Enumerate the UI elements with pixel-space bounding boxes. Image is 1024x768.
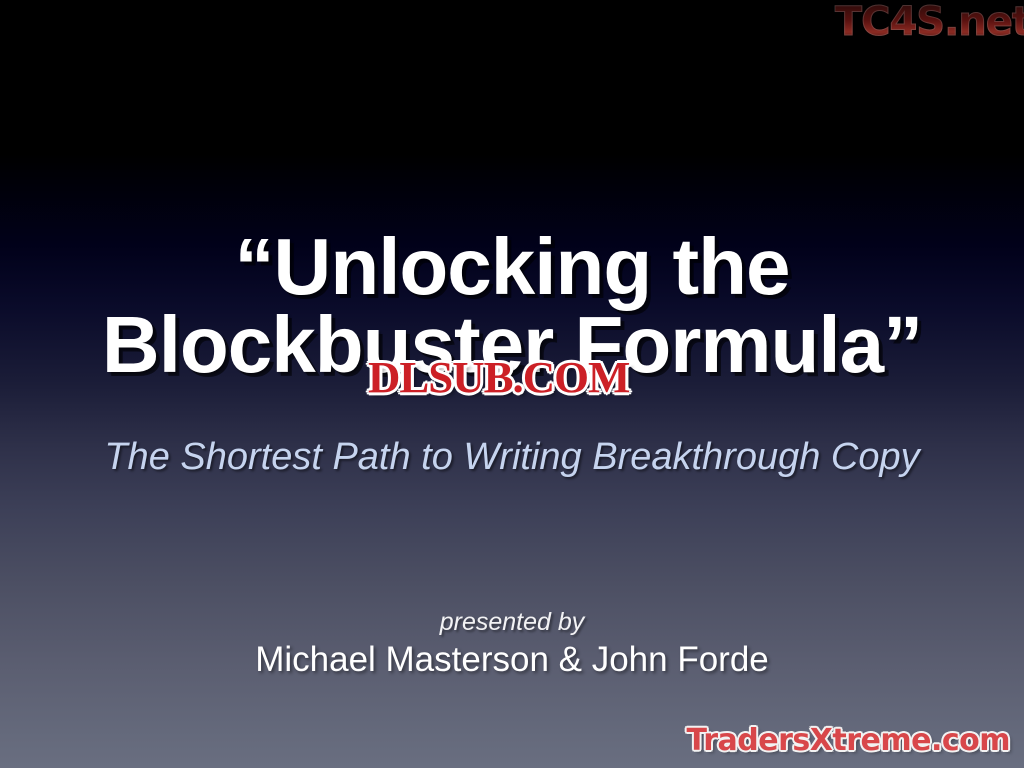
presenter-names: Michael Masterson & John Forde: [0, 639, 1024, 680]
presented-by-label: presented by: [0, 608, 1024, 637]
title-line-1: “Unlocking the: [0, 228, 1024, 306]
watermark-dlsub: DLSUB.COM: [368, 356, 629, 400]
watermark-tradersxtreme: TradersXtreme.com: [687, 726, 1010, 756]
slide-subtitle: The Shortest Path to Writing Breakthroug…: [0, 436, 1024, 479]
presentation-slide: TC4S.net “Unlocking the Blockbuster Form…: [0, 0, 1024, 768]
watermark-tc4s: TC4S.net: [835, 2, 1024, 42]
presenter-block: presented by Michael Masterson & John Fo…: [0, 608, 1024, 680]
